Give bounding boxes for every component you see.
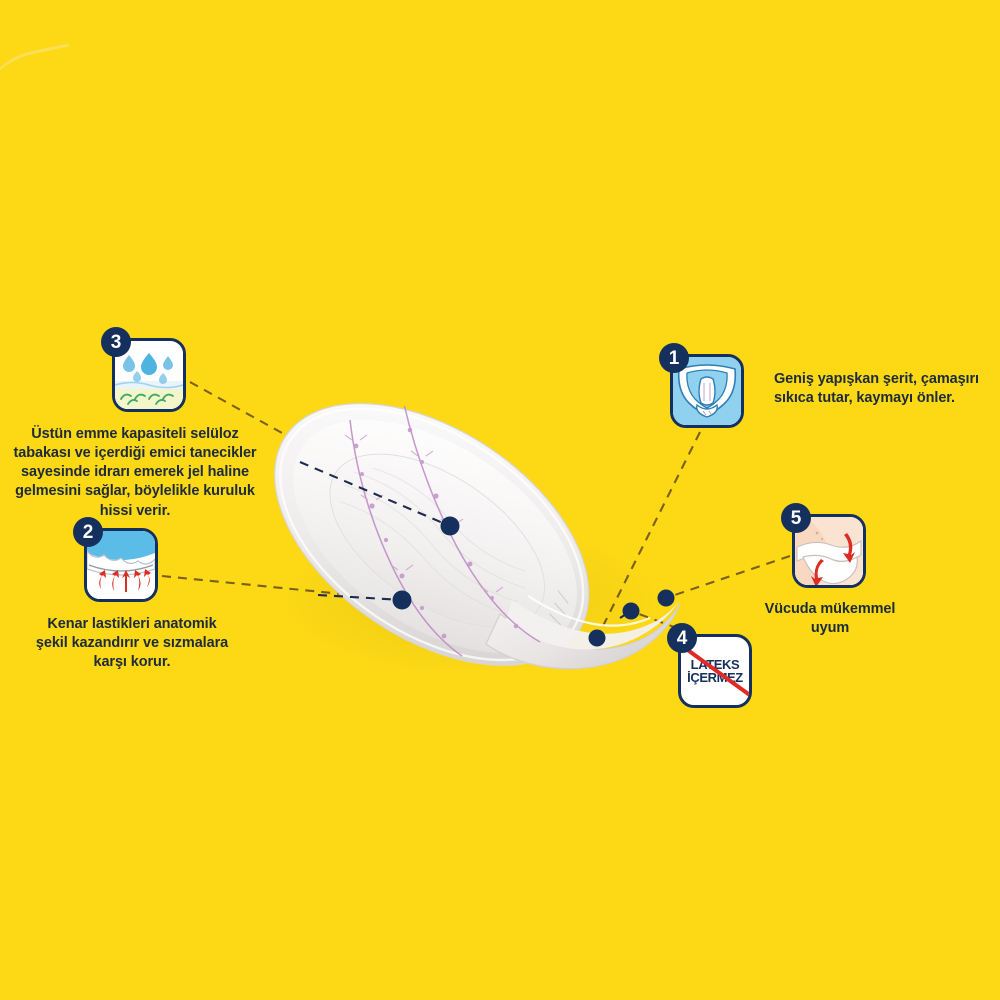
feature-4[interactable]: LATEKS İÇERMEZ 4 [678,634,752,708]
feature-number-badge-3: 3 [101,327,131,357]
feature-caption-1: Geniş yapışkan şerit, çamaşırı sıkıca tu… [774,370,998,408]
feature-3[interactable]: 3 Üstün emme kapasiteli selüloz tabakası… [112,338,186,412]
feature-number-badge-5: 5 [781,503,811,533]
feature-1[interactable]: 1 Geniş yapışkan şerit, çamaşırı sıkıca … [670,354,744,428]
feature-number-badge-4: 4 [667,623,697,653]
marker-dot-2 [393,591,412,610]
marker-dot-5 [658,590,675,607]
feature-caption-3: Üstün emme kapasiteli selüloz tabakası v… [10,425,260,521]
feature-2[interactable]: 2 Kenar lastikleri anatomik şekil kazand… [84,528,158,602]
infographic-canvas: 3 Üstün emme kapasiteli selüloz tabakası… [0,0,1000,1000]
marker-dot-1 [623,603,640,620]
feature-5[interactable]: 5 Vücuda mükemmel uyum [792,514,866,588]
marker-dot-3 [441,517,460,536]
feature-caption-2: Kenar lastikleri anatomik şekil kazandır… [32,615,232,672]
feature-number-badge-1: 1 [659,343,689,373]
feature-number-badge-2: 2 [73,517,103,547]
marker-dot-4 [589,630,606,647]
feature-caption-5: Vücuda mükemmel uyum [756,600,904,638]
